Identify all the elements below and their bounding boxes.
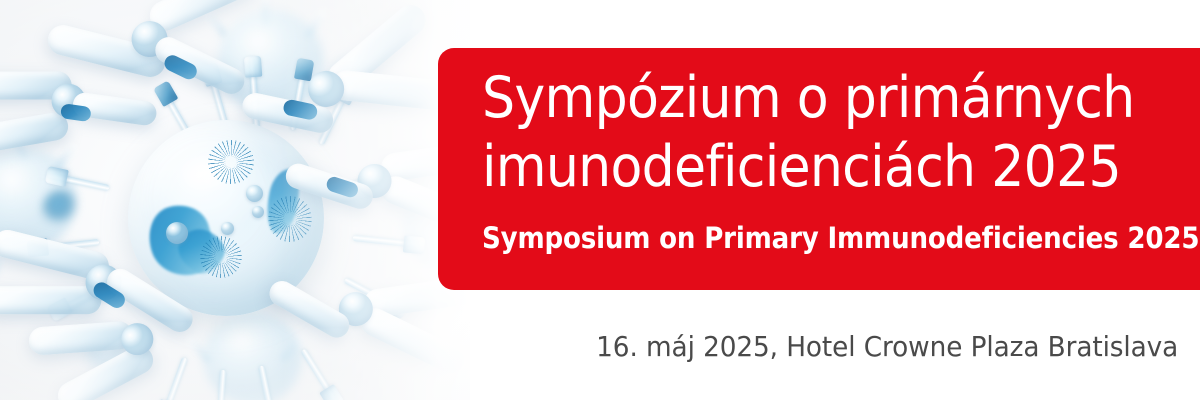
title-panel: Sympózium o primárnych imunodeficienciác… bbox=[438, 48, 1200, 290]
sphere-bump-icon bbox=[246, 185, 263, 202]
sphere-bump-icon bbox=[166, 222, 188, 244]
background-virus-icon bbox=[42, 190, 82, 230]
title-line-1: Sympózium o primárnych bbox=[482, 64, 1139, 133]
subtitle-english: Symposium on Primary Immunodeficiencies … bbox=[482, 218, 1128, 258]
receptor-rosette-icon bbox=[200, 236, 242, 278]
receptor-rosette-icon bbox=[268, 196, 312, 242]
antibody-molecule-icon bbox=[0, 50, 150, 199]
title-line-2: imunodeficienciách 2025 bbox=[482, 133, 1139, 202]
virus-antibody-illustration bbox=[0, 0, 470, 400]
receptor-rosette-icon bbox=[208, 140, 254, 184]
sphere-bump-icon bbox=[252, 206, 264, 218]
sphere-bump-icon bbox=[221, 222, 234, 235]
date-venue-line: 16. máj 2025, Hotel Crowne Plaza Bratisl… bbox=[596, 328, 1178, 366]
event-banner: Sympózium o primárnych imunodeficienciác… bbox=[0, 0, 1200, 400]
title-block: Sympózium o primárnych imunodeficienciác… bbox=[482, 64, 1200, 258]
